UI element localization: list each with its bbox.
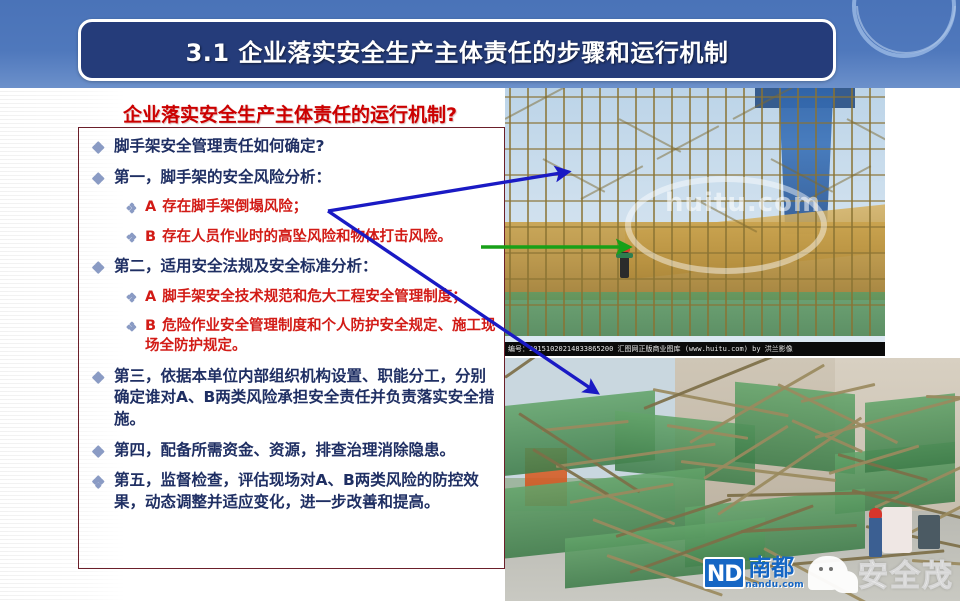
debris-bin <box>918 515 940 549</box>
list-item-lead: A <box>145 289 156 305</box>
bullet-list: 脚手架安全管理责任如何确定?第一，脚手架的安全风险分析：A存在脚手架倒塌风险；B… <box>79 128 504 523</box>
scaffold-pole-vertical <box>563 88 565 336</box>
nandu-logo: ND 南都 nandu.com <box>703 557 804 590</box>
list-item-text: 存在人员作业时的高坠风险和物体打击风险。 <box>162 229 452 245</box>
photo-scaffold-collapse: ND 南都 nandu.com 安全茂 <box>505 358 960 601</box>
scaffold-pole-vertical <box>527 88 529 336</box>
scaffold-pole-vertical <box>869 88 871 336</box>
wechat-icon <box>808 556 848 590</box>
photo-scaffolding-site: huitu.com 编号：20151020214833865200 汇图网正版商… <box>505 88 885 356</box>
photo-watermark: huitu.com <box>665 188 821 218</box>
scaffold-pole-vertical <box>509 88 511 336</box>
diamond-bullet-icon <box>127 293 136 302</box>
list-item-text: 第四，配备所需资金、资源，排查治理消除隐患。 <box>114 441 455 459</box>
diamond-bullet-icon <box>127 322 136 331</box>
scaffold-pole-vertical <box>851 88 853 336</box>
list-item: 第四，配备所需资金、资源，排查治理消除隐患。 <box>85 440 498 462</box>
list-item: 第三，依据本单位内部组织机构设置、职能分工，分别确定谁对A、B两类风险承担安全责… <box>85 366 498 431</box>
list-item-lead: B <box>145 229 156 245</box>
scaffold-pole-horizontal <box>505 278 885 280</box>
list-item-text: 第一，脚手架的安全风险分析： <box>114 168 331 186</box>
diamond-bullet-icon <box>93 372 104 383</box>
scaffold-pole-horizontal <box>505 148 885 150</box>
list-item-label: B存在人员作业时的高坠风险和物体打击风险。 <box>145 227 452 247</box>
list-item-label: 第三，依据本单位内部组织机构设置、职能分工，分别确定谁对A、B两类风险承担安全责… <box>114 366 498 431</box>
list-item: A脚手架安全技术规范和危大工程安全管理制度； <box>85 287 498 307</box>
diamond-bullet-icon <box>127 203 136 212</box>
list-item-label: B危险作业安全管理制度和个人防护安全规定、施工现场全防护规定。 <box>145 316 498 357</box>
list-item: 脚手架安全管理责任如何确定? <box>85 136 498 158</box>
list-item-lead: B <box>145 318 156 334</box>
scaffold-pole-vertical <box>833 88 835 336</box>
scaffold-pole-horizontal <box>505 122 885 124</box>
list-item: A存在脚手架倒塌风险； <box>85 197 498 217</box>
list-item-label: 第二，适用安全法规及安全标准分析： <box>114 256 378 278</box>
wechat-icon-bubble <box>832 571 858 593</box>
list-item-label: 第一，脚手架的安全风险分析： <box>114 167 331 189</box>
diamond-bullet-icon <box>93 262 104 273</box>
list-item-label: 第四，配备所需资金、资源，排查治理消除隐患。 <box>114 440 455 462</box>
list-item-label: A脚手架安全技术规范和危大工程安全管理制度； <box>145 287 467 307</box>
photo-caption: 编号：20151020214833865200 汇图网正版商业图库 (www.h… <box>505 342 885 356</box>
list-item-text: 存在脚手架倒塌风险； <box>162 199 307 215</box>
list-item-text: 危险作业安全管理制度和个人防护安全规定、施工现场全防护规定。 <box>145 318 496 354</box>
scaffold-pole-vertical <box>617 88 619 336</box>
scaffold-pole-vertical <box>545 88 547 336</box>
diamond-bullet-icon <box>93 173 104 184</box>
scaffold-pole-horizontal <box>505 174 885 176</box>
list-item: 第五，监督检查，评估现场对A、B两类风险的防控效果，动态调整并适应变化，进一步改… <box>85 470 498 513</box>
nandu-mark: ND <box>703 557 745 589</box>
diamond-bullet-icon <box>93 476 104 487</box>
scaffold-pole-horizontal <box>505 304 885 306</box>
list-item-lead: A <box>145 199 156 215</box>
slide-subtitle: 企业落实安全生产主体责任的运行机制? <box>80 100 500 127</box>
list-item-text: 第五，监督检查，评估现场对A、B两类风险的防控效果，动态调整并适应变化，进一步改… <box>114 471 479 511</box>
debris-bag <box>882 507 912 553</box>
nandu-url: nandu.com <box>745 580 804 590</box>
list-item-label: A存在脚手架倒塌风险； <box>145 197 307 217</box>
list-item: B危险作业安全管理制度和个人防护安全规定、施工现场全防护规定。 <box>85 316 498 357</box>
list-item-text: 第二，适用安全法规及安全标准分析： <box>114 257 378 275</box>
diamond-bullet-icon <box>93 446 104 457</box>
brand-name: 安全茂 <box>858 551 954 595</box>
scaffold-pole-horizontal <box>505 96 885 98</box>
slide-title-bar: 3.1 企业落实安全生产主体责任的步骤和运行机制 <box>78 19 836 81</box>
content-box: 脚手架安全管理责任如何确定?第一，脚手架的安全风险分析：A存在脚手架倒塌风险；B… <box>78 127 505 569</box>
list-item: 第一，脚手架的安全风险分析： <box>85 167 498 189</box>
list-item-text: 脚手架安全技术规范和危大工程安全管理制度； <box>162 289 467 305</box>
diamond-bullet-icon <box>127 233 136 242</box>
list-item-text: 脚手架安全管理责任如何确定? <box>114 137 325 155</box>
list-item: 第二，适用安全法规及安全标准分析： <box>85 256 498 278</box>
list-item-text: 第三，依据本单位内部组织机构设置、职能分工，分别确定谁对A、B两类风险承担安全责… <box>114 367 494 428</box>
page-title: 3.1 企业落实安全生产主体责任的步骤和运行机制 <box>186 33 729 68</box>
list-item-label: 第五，监督检查，评估现场对A、B两类风险的防控效果，动态调整并适应变化，进一步改… <box>114 470 498 513</box>
list-item: B存在人员作业时的高坠风险和物体打击风险。 <box>85 227 498 247</box>
scaffold-pole-vertical <box>599 88 601 336</box>
slide-root: 3.1 企业落实安全生产主体责任的步骤和运行机制 企业落实安全生产主体责任的运行… <box>0 0 960 601</box>
diamond-bullet-icon <box>93 142 104 153</box>
safety-net <box>505 292 885 336</box>
list-item-label: 脚手架安全管理责任如何确定? <box>114 136 325 158</box>
logo-row: ND 南都 nandu.com 安全茂 <box>703 551 954 595</box>
worker-figure <box>620 252 629 278</box>
nandu-chinese-name: 南都 <box>748 557 804 579</box>
scaffold-pole-vertical <box>581 88 583 336</box>
